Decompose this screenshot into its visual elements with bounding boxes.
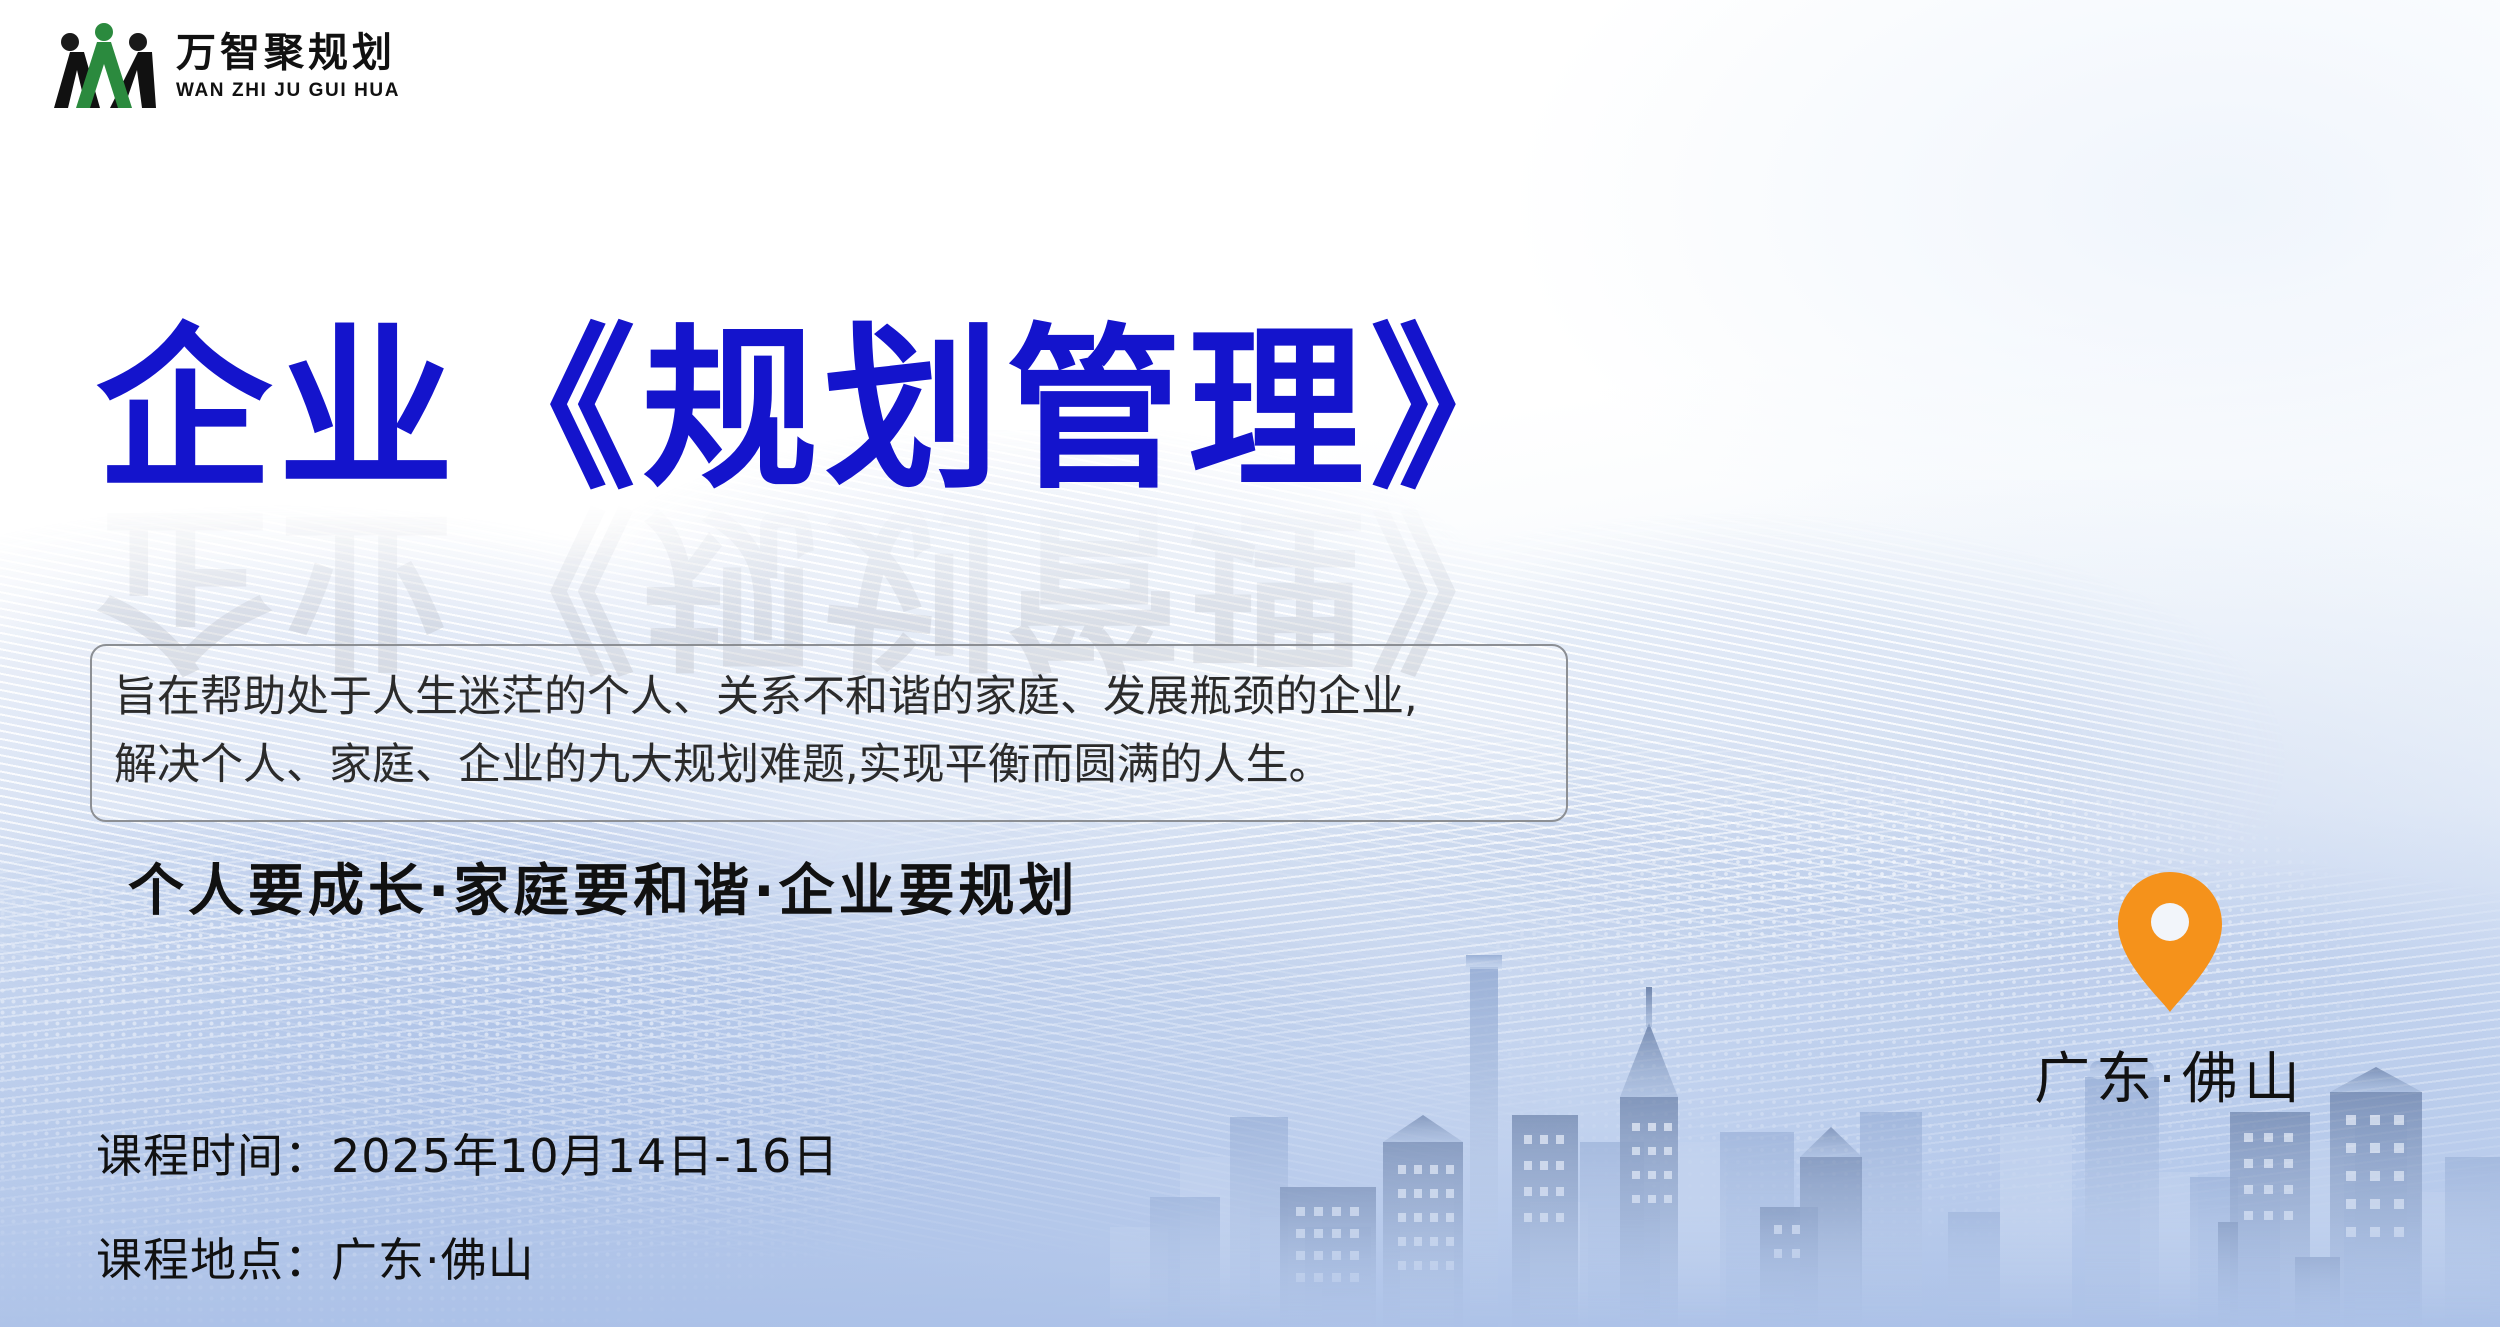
description-box: 旨在帮助处于人生迷茫的个人、关系不和谐的家庭、发展瓶颈的企业, 解决个人、家庭、… (90, 644, 1568, 822)
brand-logo-text: 万智聚规划 WAN ZHI JU GUI HUA (176, 33, 400, 100)
page-title: 企业《规划管理》 (96, 318, 1656, 505)
poster-canvas: 万智聚规划 WAN ZHI JU GUI HUA 企业《规划管理》 企业《规划管… (0, 0, 2500, 1327)
brand-name-en: WAN ZHI JU GUI HUA (176, 81, 400, 100)
brand-logo: 万智聚规划 WAN ZHI JU GUI HUA (48, 20, 400, 112)
hero-title-block: 企业《规划管理》 企业《规划管理》 (96, 318, 1656, 677)
course-time: 课程时间：2025年10月14日-16日 (96, 1120, 839, 1186)
location-label: 广东·佛山 (1960, 1034, 2380, 1115)
hero-tagline: 个人要成长·家庭要和谐·企业要规划 (128, 846, 1079, 927)
description-line-2: 解决个人、家庭、企业的九大规划难题,实现平衡而圆满的人生。 (114, 732, 1544, 800)
location-marker: 广东·佛山 (1960, 872, 2380, 1115)
brand-name-cn: 万智聚规划 (176, 33, 400, 73)
course-place: 课程地点：广东·佛山 (96, 1224, 839, 1290)
three-people-m-logo-icon (48, 20, 160, 112)
course-info: 课程时间：2025年10月14日-16日 课程地点：广东·佛山 (96, 1120, 839, 1290)
map-pin-icon (2116, 872, 2224, 1012)
description-line-1: 旨在帮助处于人生迷茫的个人、关系不和谐的家庭、发展瓶颈的企业, (114, 664, 1544, 732)
